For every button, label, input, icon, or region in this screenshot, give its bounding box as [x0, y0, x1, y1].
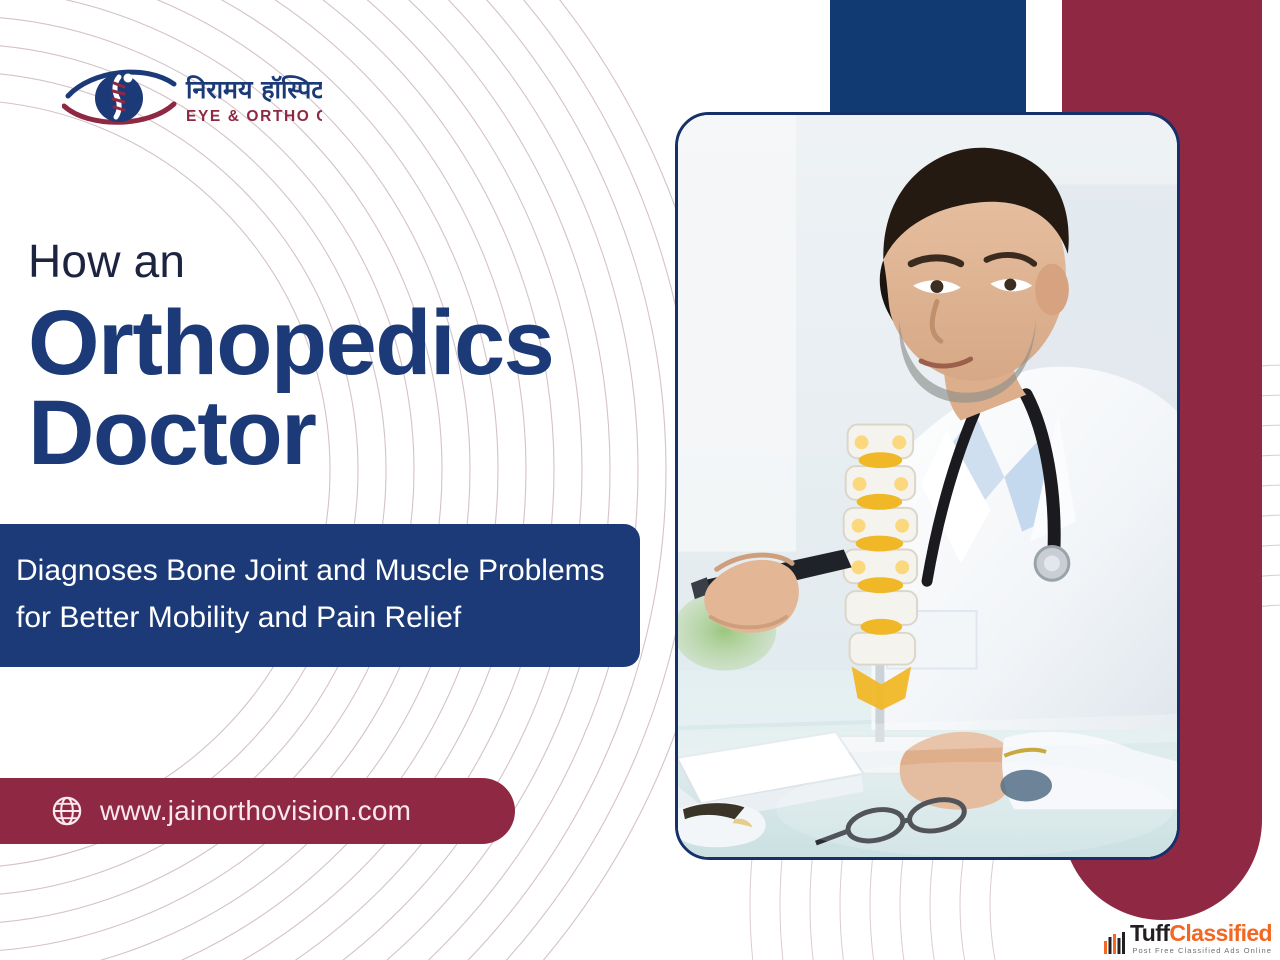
headline-block: How an Orthopedics Doctor [28, 238, 668, 478]
watermark-tagline: Post Free Classified Ads Online [1130, 947, 1272, 955]
navy-accent-bar [830, 0, 1026, 112]
website-band[interactable]: www.jainorthovision.com [0, 778, 515, 844]
watermark-brand-part2: Classified [1169, 920, 1272, 946]
tuffclassified-watermark: TuffClassified Post Free Classified Ads … [1104, 922, 1272, 955]
page-title: Orthopedics Doctor [28, 298, 668, 478]
subtitle-banner: Diagnoses Bone Joint and Muscle Problems… [0, 524, 640, 667]
hospital-logo[interactable]: निरामय हॉस्पिटल EYE & ORTHO CARE [62, 62, 322, 138]
logo-tagline: EYE & ORTHO CARE [186, 108, 322, 125]
website-url[interactable]: www.jainorthovision.com [100, 795, 411, 827]
logo-name-local: निरामय हॉस्पिटल [185, 75, 322, 104]
watermark-brand: TuffClassified [1130, 922, 1272, 945]
globe-icon [52, 796, 82, 826]
headline-line-2: Doctor [28, 388, 668, 478]
doctor-photo [675, 112, 1180, 860]
watermark-text: TuffClassified Post Free Classified Ads … [1130, 922, 1272, 955]
headline-line-1: Orthopedics [28, 292, 553, 394]
bars-icon [1104, 932, 1126, 954]
watermark-brand-part1: Tuff [1130, 920, 1169, 946]
poster-canvas: निरामय हॉस्पिटल EYE & ORTHO CARE How an … [0, 0, 1280, 960]
headline-eyebrow: How an [28, 238, 668, 284]
